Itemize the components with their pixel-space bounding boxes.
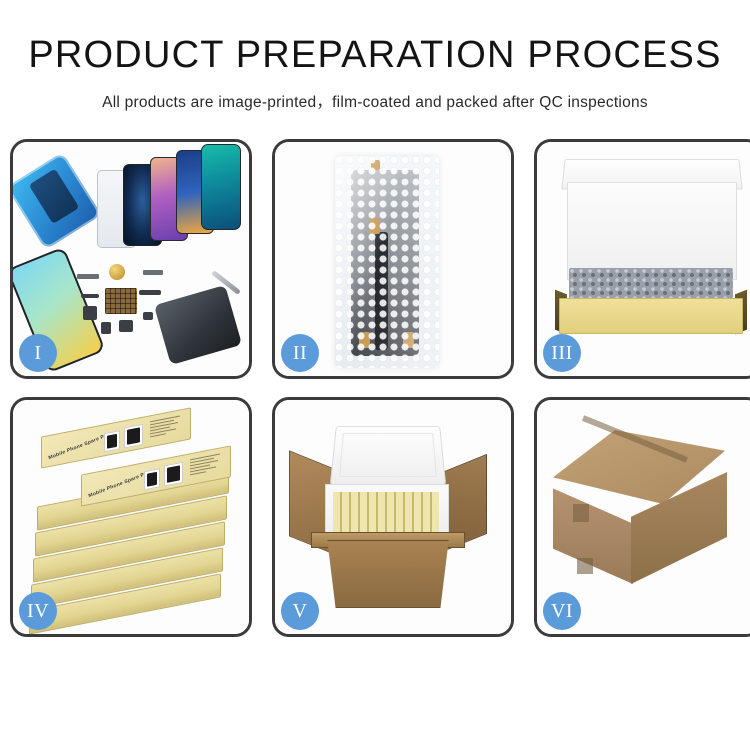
- phone-display-teal-icon: [201, 144, 241, 230]
- carton-front-panel-icon: [319, 540, 457, 608]
- inner-box-front-panel-icon: [559, 298, 743, 334]
- bubble-wrap-bag-icon: [335, 156, 439, 368]
- carton-tape-patch-icon-2: [577, 558, 593, 574]
- page-header: PRODUCT PREPARATION PROCESS All products…: [0, 0, 750, 112]
- step-badge-5: V: [281, 592, 319, 630]
- plastic-sheen-icon: [335, 156, 439, 368]
- speaker-module-icon: [109, 264, 125, 280]
- step-badge-1: I: [19, 334, 57, 372]
- process-steps-grid: I II: [10, 139, 741, 637]
- small-part-icon-1: [77, 274, 99, 279]
- step-badge-3: III: [543, 334, 581, 372]
- step-panel-1[interactable]: I: [10, 139, 252, 379]
- screw-set-icon: [143, 312, 153, 320]
- small-part-icon-2: [143, 270, 163, 275]
- inner-box-back-panel-icon: [567, 182, 737, 280]
- step-badge-2: II: [281, 334, 319, 372]
- phone-back-housing-icon: [154, 285, 242, 365]
- foam-lid-icon: [330, 426, 446, 485]
- carton-left-face-icon: [553, 480, 633, 584]
- button-part-icon: [119, 320, 133, 332]
- camera-module-icon: [83, 306, 97, 320]
- page-root: PRODUCT PREPARATION PROCESS All products…: [0, 0, 750, 750]
- step-badge-6: VI: [543, 592, 581, 630]
- retail-box-stack-icon: Mobile Phone Spare Parts Mobile Phone Sp…: [23, 416, 235, 624]
- step-panel-6[interactable]: VI: [534, 397, 750, 637]
- step-badge-4: IV: [19, 592, 57, 630]
- sim-tray-icon: [101, 322, 111, 334]
- flex-cable-icon-2: [139, 290, 161, 295]
- step-panel-5[interactable]: V: [272, 397, 514, 637]
- step-panel-2[interactable]: II: [272, 139, 514, 379]
- grey-foam-padding-icon: [569, 268, 733, 302]
- logic-board-icon: [105, 288, 137, 314]
- flex-cable-icon-1: [81, 294, 99, 298]
- page-subtitle: All products are image-printed，film-coat…: [0, 90, 750, 112]
- blue-screen-protector-icon: [10, 152, 102, 250]
- page-title: PRODUCT PREPARATION PROCESS: [0, 36, 750, 74]
- carton-tape-patch-icon-1: [573, 504, 589, 522]
- step-panel-3[interactable]: III: [534, 139, 750, 379]
- step-panel-4[interactable]: Mobile Phone Spare Parts Mobile Phone Sp…: [10, 397, 252, 637]
